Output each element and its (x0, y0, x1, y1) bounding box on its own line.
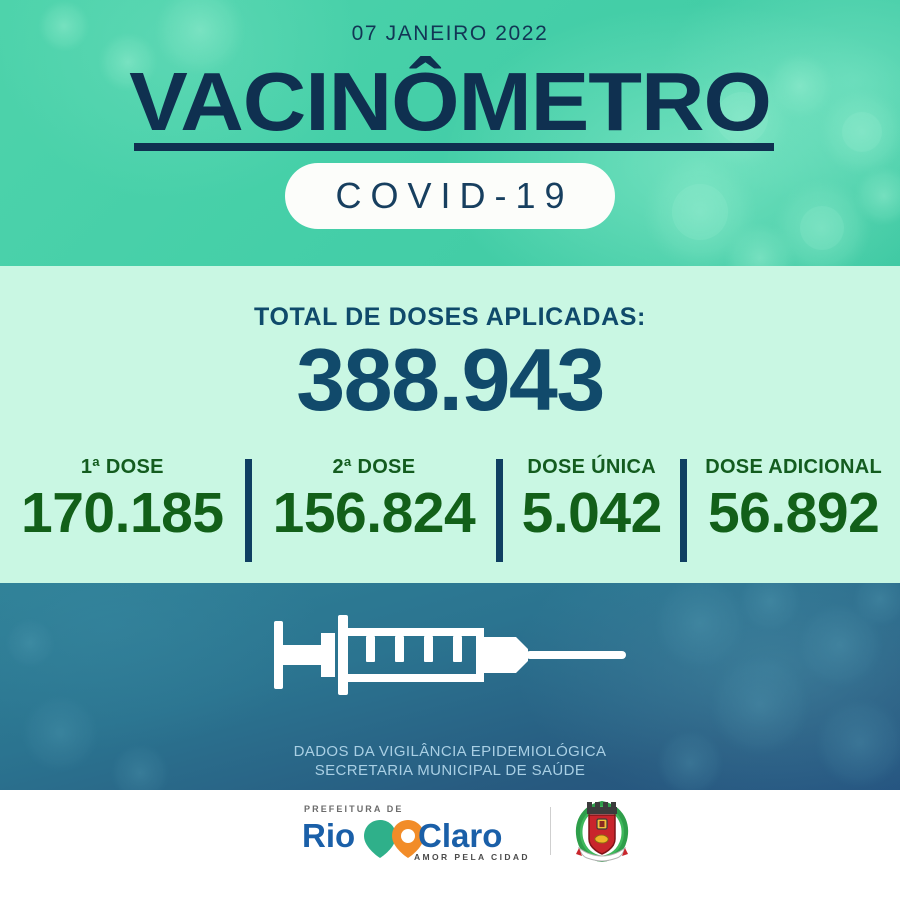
syringe-illustration (0, 615, 900, 700)
publication-date: 07 JANEIRO 2022 (0, 22, 900, 46)
dose-label: DOSE ÚNICA (527, 456, 656, 479)
dose-divider (680, 459, 687, 562)
page-title: VACINÔMETRO (0, 58, 900, 146)
dose-cell-primeira: 1ª DOSE 170.185 (0, 454, 245, 545)
dose-divider (496, 459, 503, 562)
dose-value: 156.824 (273, 481, 476, 545)
dose-value: 5.042 (522, 481, 662, 545)
logo-tagline-text: AMOR PELA CIDADE (414, 852, 530, 862)
logo-rio-text: Rio (302, 817, 355, 854)
footer-band: PREFEITURA DE Rio Claro AMOR PELA CIDADE (0, 790, 900, 900)
dose-breakdown-row: 1ª DOSE 170.185 2ª DOSE 156.824 DOSE ÚNI… (0, 454, 900, 574)
stats-band: TOTAL DE DOSES APLICADAS: 388.943 1ª DOS… (0, 266, 900, 583)
total-doses-value: 388.943 (0, 328, 900, 432)
dose-cell-segunda: 2ª DOSE 156.824 (252, 454, 497, 545)
rio-claro-city-logo: PREFEITURA DE Rio Claro AMOR PELA CIDADE (268, 799, 530, 863)
dose-label: 2ª DOSE (332, 456, 415, 479)
syringe-icon (274, 615, 626, 695)
logo-row: PREFEITURA DE Rio Claro AMOR PELA CIDADE (0, 798, 900, 864)
data-source-credits: DADOS DA VIGILÂNCIA EPIDEMIOLÓGICA SECRE… (0, 742, 900, 780)
vaccination-dashboard-poster: 07 JANEIRO 2022 VACINÔMETRO COVID-19 TOT… (0, 0, 900, 900)
covid-badge-label: COVID-19 (326, 175, 573, 217)
logo-prefix-text: PREFEITURA DE (304, 804, 403, 814)
credit-line-vigilancia: DADOS DA VIGILÂNCIA EPIDEMIOLÓGICA (0, 742, 900, 761)
rio-claro-coat-of-arms-icon (571, 798, 633, 864)
logo-separator (550, 807, 551, 855)
dose-cell-unica: DOSE ÚNICA 5.042 (503, 454, 680, 545)
dose-cell-adicional: DOSE ADICIONAL 56.892 (687, 454, 900, 545)
credit-line-secretaria: SECRETARIA MUNICIPAL DE SAÚDE (0, 761, 900, 780)
dose-divider (245, 459, 252, 562)
dose-label: 1ª DOSE (81, 456, 164, 479)
header-band: 07 JANEIRO 2022 VACINÔMETRO COVID-19 (0, 0, 900, 266)
dose-value: 170.185 (21, 481, 224, 545)
dose-value: 56.892 (708, 481, 879, 545)
covid-badge: COVID-19 (285, 163, 615, 229)
title-underline-rule (134, 143, 774, 151)
logo-claro-text: Claro (418, 817, 502, 854)
dose-label: DOSE ADICIONAL (705, 456, 882, 479)
